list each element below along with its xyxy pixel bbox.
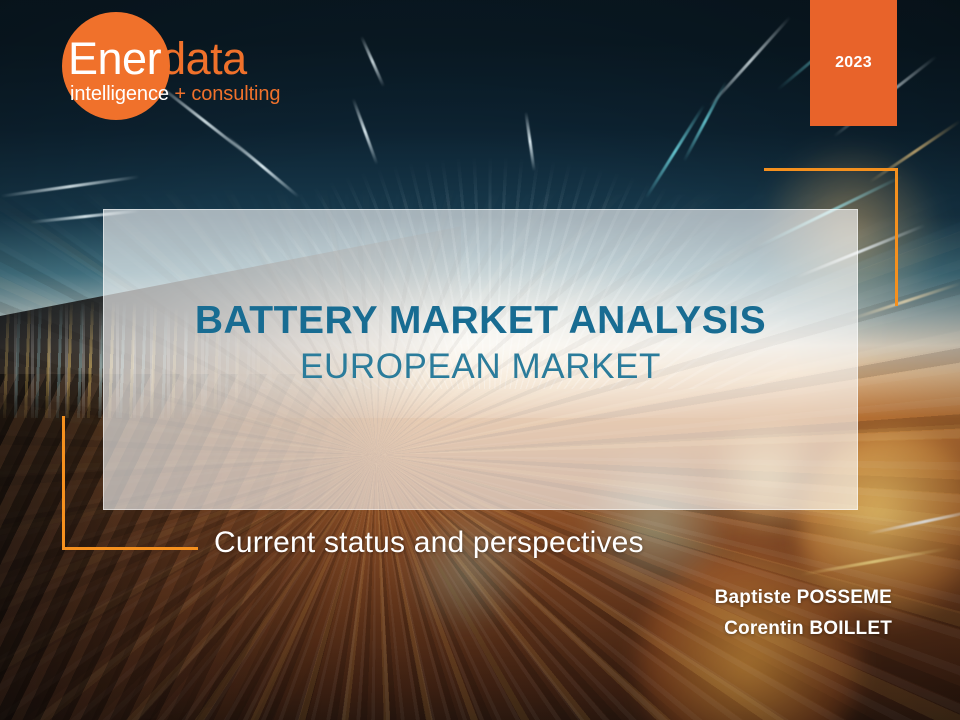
logo-tagline: intelligence + consulting	[70, 84, 280, 104]
logo-word-ener: Ener	[68, 33, 161, 84]
author-name: Baptiste POSSEME	[715, 582, 892, 613]
year-badge: 2023	[810, 0, 897, 126]
logo-word-data: data	[161, 33, 247, 84]
bracket-bottom-left-vertical	[62, 416, 65, 550]
page-subtitle: EUROPEAN MARKET	[103, 348, 858, 387]
author-name: Corentin BOILLET	[715, 613, 892, 644]
bracket-top-right	[764, 168, 898, 306]
logo-tagline-consulting: + consulting	[174, 83, 280, 105]
page-title: BATTERY MARKET ANALYSIS	[103, 300, 858, 342]
logo-wordmark: Enerdata	[68, 36, 247, 81]
enerdata-logo[interactable]: Enerdata intelligence + consulting	[62, 12, 292, 122]
bracket-bottom-left-horizontal	[62, 547, 198, 550]
year-badge-label: 2023	[835, 54, 872, 72]
logo-tagline-intelligence: intelligence	[70, 83, 174, 105]
bracket-bottom-left	[62, 416, 198, 550]
bracket-top-right-horizontal	[764, 168, 898, 171]
slide-tagline: Current status and perspectives	[214, 526, 644, 560]
author-list: Baptiste POSSEME Corentin BOILLET	[715, 582, 892, 645]
title-slide: BATTERY MARKET ANALYSIS EUROPEAN MARKET …	[0, 0, 960, 720]
bracket-top-right-vertical	[895, 168, 898, 306]
title-block: BATTERY MARKET ANALYSIS EUROPEAN MARKET	[103, 300, 858, 387]
